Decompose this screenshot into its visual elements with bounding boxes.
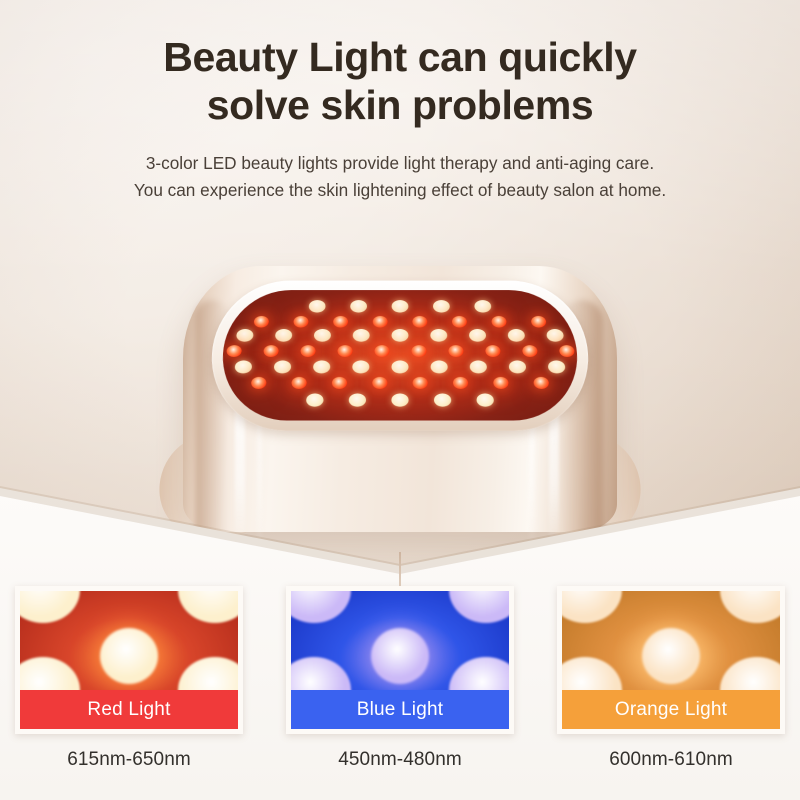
led-dot: [392, 329, 409, 342]
led-dot: [373, 316, 388, 328]
light-mode-card-list: Red Light615nm-650nmBlue Light450nm-480n…: [0, 586, 800, 786]
card-label-bar: Orange Light: [562, 690, 780, 729]
led-dot: [349, 393, 366, 406]
led-dot: [263, 345, 278, 357]
led-dot: [430, 329, 447, 342]
led-dot: [391, 393, 408, 406]
led-dot: [548, 360, 566, 373]
card-frame[interactable]: Orange Light: [557, 586, 785, 734]
led-dot: [448, 345, 463, 357]
led-dot: [493, 377, 508, 389]
headline-line-2: solve skin problems: [60, 82, 740, 130]
card-inner: Orange Light: [562, 591, 780, 729]
led-dome: [562, 591, 622, 623]
card-wavelength-caption: 450nm-480nm: [338, 749, 462, 771]
card-inner: Red Light: [20, 591, 238, 729]
led-dot: [254, 316, 269, 328]
led-dot: [313, 360, 330, 373]
led-dome: [449, 591, 509, 623]
card-label-text: Red Light: [87, 699, 170, 721]
led-dot: [235, 360, 253, 373]
led-dot: [485, 345, 500, 357]
led-dot: [509, 360, 527, 373]
led-dot: [392, 300, 409, 312]
led-dome: [720, 591, 780, 623]
card-label-bar: Red Light: [20, 690, 238, 729]
led-dot: [300, 345, 315, 357]
led-panel-bezel: [208, 281, 593, 431]
led-beauty-device: [165, 238, 635, 538]
led-dot: [559, 345, 575, 357]
headline: Beauty Light can quickly solve skin prob…: [0, 34, 800, 129]
led-dot: [533, 377, 549, 389]
led-dot: [291, 377, 306, 389]
led-dot: [337, 345, 352, 357]
led-dome: [291, 591, 351, 623]
headline-line-1: Beauty Light can quickly: [163, 34, 636, 80]
card-frame[interactable]: Red Light: [15, 586, 243, 734]
led-dot: [508, 329, 525, 342]
led-dot: [332, 377, 347, 389]
led-dome: [20, 591, 80, 623]
led-dot: [413, 377, 428, 389]
led-dot: [352, 360, 369, 373]
led-dot: [306, 393, 324, 406]
led-dot-grid: [219, 290, 580, 420]
light-mode-card[interactable]: Red Light615nm-650nm: [15, 586, 243, 786]
subheadline-line-2: You can experience the skin lightening e…: [70, 177, 730, 204]
led-dot: [433, 300, 450, 312]
led-dot: [293, 316, 308, 328]
led-dot: [453, 377, 468, 389]
light-mode-card[interactable]: Blue Light450nm-480nm: [286, 586, 514, 786]
led-dot: [226, 345, 242, 357]
led-dot: [522, 345, 537, 357]
led-dome: [642, 628, 700, 684]
led-panel-face: [219, 290, 580, 420]
led-dot: [412, 316, 427, 328]
led-dot: [350, 300, 367, 312]
subheadline-line-1: 3-color LED beauty lights provide light …: [146, 153, 654, 173]
led-dot: [474, 300, 491, 312]
card-label-text: Blue Light: [357, 699, 444, 721]
led-dot: [275, 329, 292, 342]
led-dot: [491, 316, 506, 328]
led-dot: [476, 393, 494, 406]
product-promo-image: Beauty Light can quickly solve skin prob…: [0, 0, 800, 800]
led-dot: [434, 393, 451, 406]
led-dot: [531, 316, 546, 328]
led-dot: [431, 360, 448, 373]
card-frame[interactable]: Blue Light: [286, 586, 514, 734]
subheadline: 3-color LED beauty lights provide light …: [0, 150, 800, 203]
led-dot: [314, 329, 331, 342]
led-dome: [100, 628, 158, 684]
led-dot: [391, 360, 408, 373]
led-dome: [371, 628, 429, 684]
led-dot: [469, 329, 486, 342]
card-label-text: Orange Light: [615, 699, 727, 721]
card-label-bar: Blue Light: [291, 690, 509, 729]
card-wavelength-caption: 600nm-610nm: [609, 749, 733, 771]
led-dot: [333, 316, 348, 328]
led-dot: [470, 360, 487, 373]
card-inner: Blue Light: [291, 591, 509, 729]
led-dot: [452, 316, 467, 328]
led-dot: [374, 345, 389, 357]
led-dome: [178, 591, 238, 623]
led-dot: [309, 300, 326, 312]
led-dot: [236, 329, 254, 342]
card-wavelength-caption: 615nm-650nm: [67, 749, 191, 771]
led-dot: [372, 377, 387, 389]
connector-line: [399, 552, 401, 590]
led-dot: [546, 329, 564, 342]
light-mode-card[interactable]: Orange Light600nm-610nm: [557, 586, 785, 786]
led-dot: [251, 377, 267, 389]
led-dot: [274, 360, 292, 373]
led-dot: [411, 345, 426, 357]
led-dot: [353, 329, 370, 342]
